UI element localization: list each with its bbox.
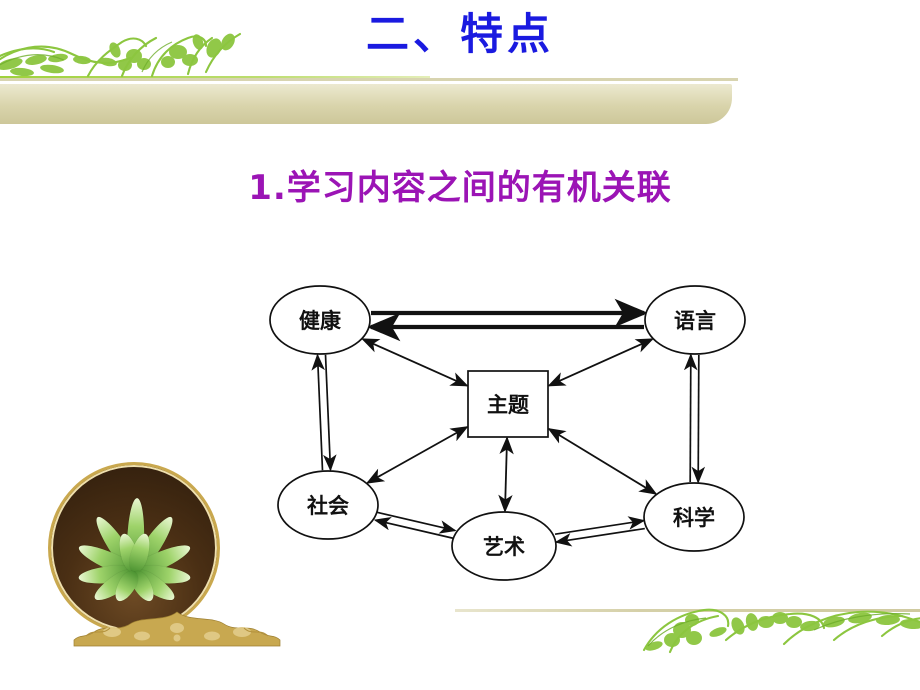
relationship-diagram: 健康语言主题社会艺术科学 xyxy=(250,262,790,592)
diagram-edge xyxy=(363,339,467,386)
diagram-node-art[interactable]: 艺术 xyxy=(452,512,556,580)
slide-canvas: 二、特点 1.学习内容之间的有机关联 xyxy=(0,0,920,690)
faint-placeholder-text xyxy=(462,222,822,238)
diagram-edge xyxy=(549,339,652,385)
diagram-node-society[interactable]: 社会 xyxy=(278,471,378,539)
node-label: 健康 xyxy=(299,308,342,333)
diagram-edge xyxy=(555,521,644,535)
diagram-edge xyxy=(549,429,656,494)
diagram-edge xyxy=(367,427,467,483)
header-banner xyxy=(0,84,732,124)
diagram-edge xyxy=(698,355,699,482)
diagram-node-theme[interactable]: 主题 xyxy=(468,371,548,437)
node-label: 主题 xyxy=(487,392,530,417)
plant-photo-frame xyxy=(48,462,220,634)
diagram-edge xyxy=(375,520,453,538)
diagram-node-science[interactable]: 科学 xyxy=(644,483,744,551)
section-heading: 1.学习内容之间的有机关联 xyxy=(0,160,920,209)
diagram-edge xyxy=(377,512,455,530)
diagram-edge xyxy=(326,355,331,470)
diagram-node-health[interactable]: 健康 xyxy=(270,286,370,354)
node-label: 社会 xyxy=(306,493,349,518)
node-label: 语言 xyxy=(674,308,716,333)
node-label: 艺术 xyxy=(483,534,525,559)
diagram-node-language[interactable]: 语言 xyxy=(645,286,745,354)
diagram-edge xyxy=(690,355,691,482)
node-label: 科学 xyxy=(673,505,715,530)
page-title: 二、特点 xyxy=(0,12,920,59)
diagram-edge xyxy=(556,529,645,543)
diagram-edge xyxy=(318,355,323,470)
bottom-right-floral-flourish-icon xyxy=(634,596,920,656)
diagram-edge xyxy=(505,438,507,511)
gold-scroll-ornament-icon xyxy=(72,606,282,652)
